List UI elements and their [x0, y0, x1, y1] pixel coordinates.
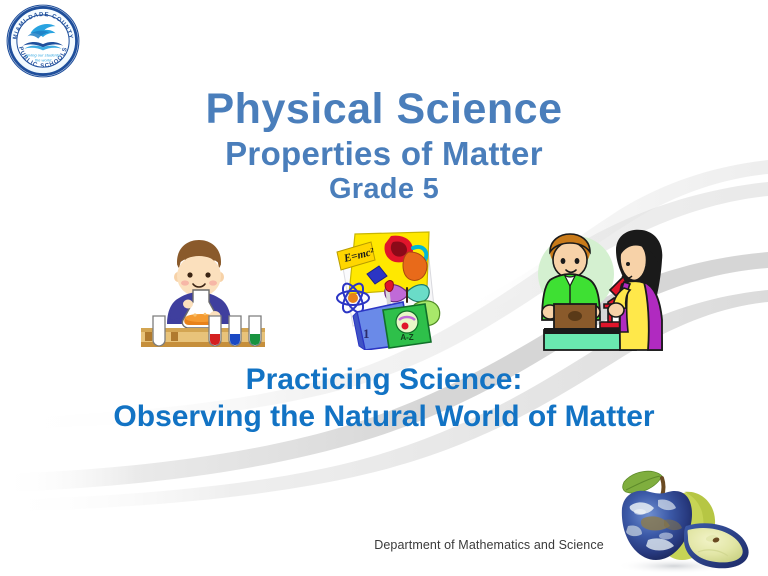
slide-subtitle-block: Practicing Science: Observing the Natura… [0, 362, 768, 435]
title-line-physical-science: Physical Science [0, 88, 768, 131]
svg-text:A-Z: A-Z [400, 333, 413, 342]
subtitle-line-practicing-science: Practicing Science: [0, 362, 768, 399]
slide-footer: Department of Mathematics and Science [0, 538, 768, 552]
students-at-microscope-icon [516, 228, 664, 356]
boy-with-flask-icon [133, 232, 273, 354]
slide-title-block: Physical Science Properties of Matter Gr… [0, 88, 768, 204]
subtitle-line-observing-natural-world: Observing the Natural World of Matter [0, 399, 768, 436]
earth-apple-image [600, 462, 760, 574]
svg-text:the world: the world [35, 57, 52, 62]
svg-text:1: 1 [363, 326, 370, 341]
title-line-properties-of-matter: Properties of Matter [0, 137, 768, 170]
science-collage-icon: E=mc² 1 [331, 230, 443, 350]
presentation-slide: MIAMI-DADE COUNTY PUBLIC SCHOOLS giving … [0, 0, 768, 576]
mdcps-logo: MIAMI-DADE COUNTY PUBLIC SCHOOLS giving … [4, 2, 82, 80]
title-line-grade: Grade 5 [0, 175, 768, 204]
